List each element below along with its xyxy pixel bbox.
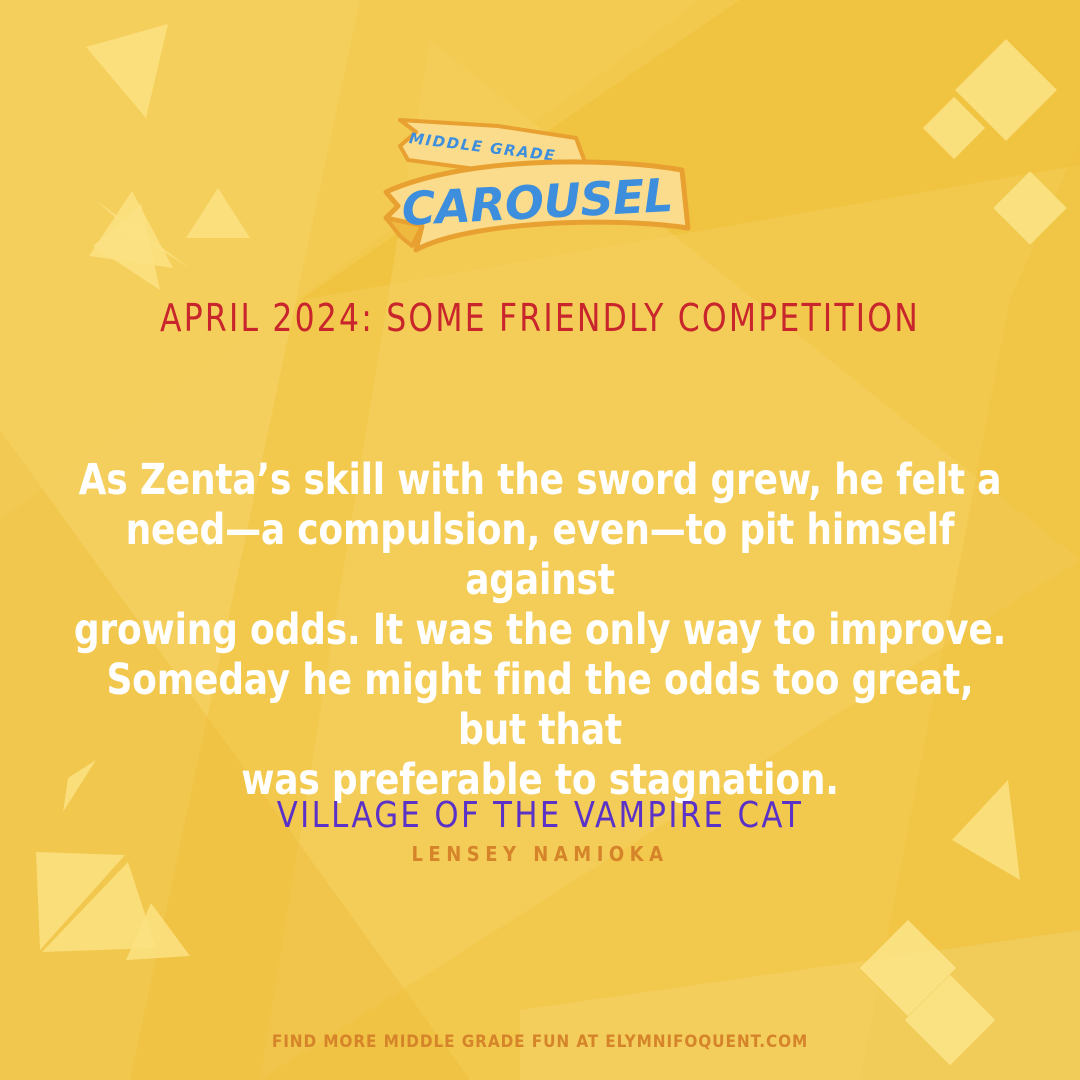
carousel-logo: MIDDLE GRADE CAROUSEL (370, 96, 710, 276)
footer-attribution: FIND MORE MIDDLE GRADE FUN AT ELYMNIFOQU… (0, 1032, 1080, 1052)
card-content: MIDDLE GRADE CAROUSEL APRIL 2024: SOME F… (0, 0, 1080, 1080)
book-author: LENSEY NAMIOKA (0, 842, 1080, 866)
issue-title: APRIL 2024: SOME FRIENDLY COMPETITION (43, 296, 1037, 340)
quote-line: growing odds. It was the only way to imp… (70, 605, 1009, 655)
quote-card: MIDDLE GRADE CAROUSEL APRIL 2024: SOME F… (0, 0, 1080, 1080)
quote-line: As Zenta’s skill with the sword grew, he… (70, 455, 1009, 505)
quote-line: Someday he might find the odds too great… (70, 655, 1009, 755)
quote-text: As Zenta’s skill with the sword grew, he… (70, 455, 1009, 805)
quote-line: need—a compulsion, even—to pit himself a… (70, 505, 1009, 605)
book-title: VILLAGE OF THE VAMPIRE CAT (27, 795, 1053, 836)
carousel-ribbon: CAROUSEL (386, 162, 688, 250)
logo-svg: MIDDLE GRADE CAROUSEL (370, 96, 710, 276)
